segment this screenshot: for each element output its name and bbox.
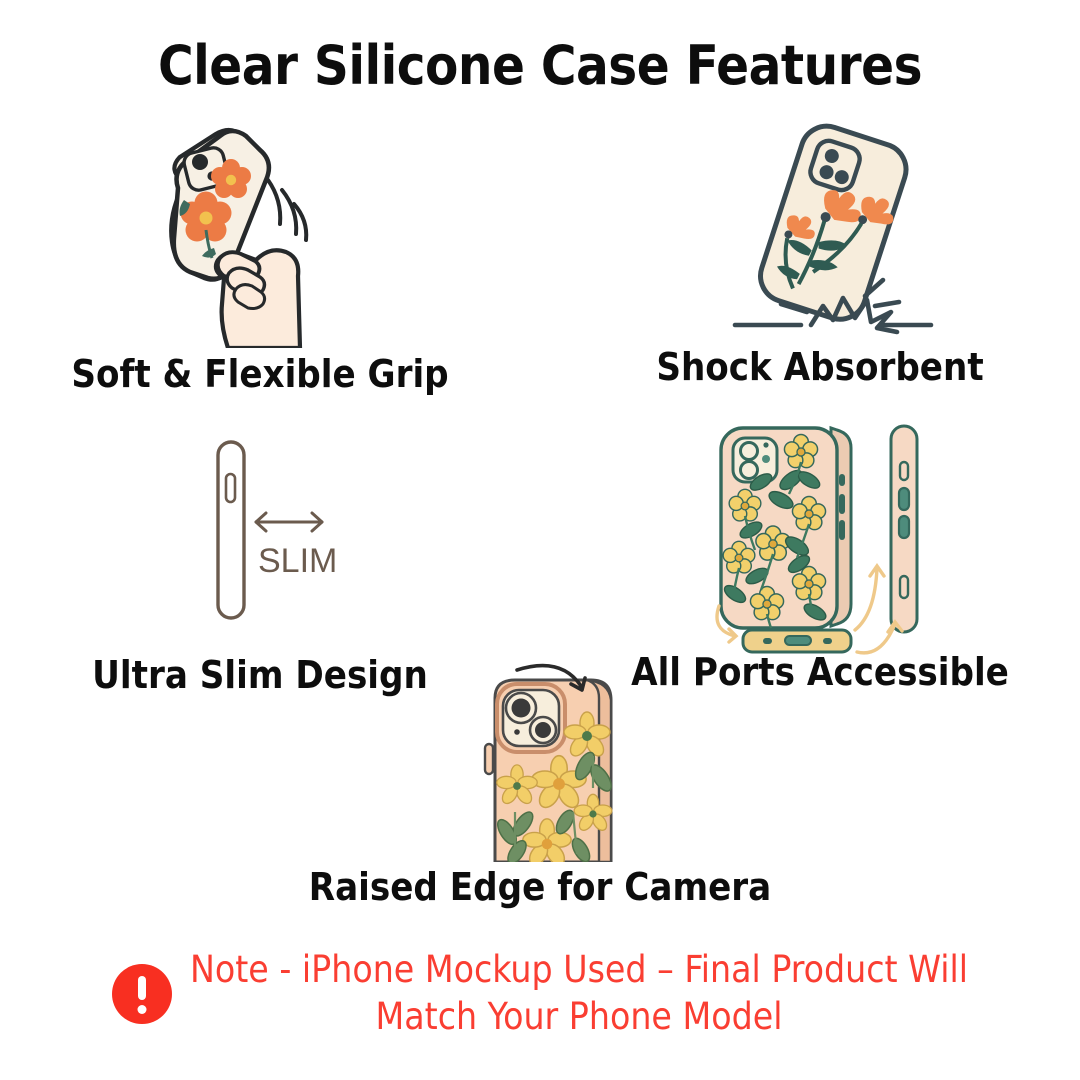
note-text: Note - iPhone Mockup Used – Final Produc…	[190, 946, 968, 1041]
all-ports-accessible-icon	[705, 418, 950, 658]
phone-side-view	[891, 426, 917, 632]
slim-caption: SLIM	[258, 542, 337, 580]
volume-down-button	[899, 516, 909, 538]
power-button	[900, 576, 908, 598]
width-arrow	[256, 513, 322, 531]
note-line-1: Note - iPhone Mockup Used – Final Produc…	[190, 948, 968, 991]
phone-bottom-view	[743, 630, 851, 652]
volume-up-button	[899, 488, 909, 510]
ultra-slim-design-icon: SLIM	[190, 430, 350, 630]
note-line-2: Match Your Phone Model	[376, 995, 783, 1038]
raised-edge-for-camera-label: Raised Edge for Camera	[290, 865, 790, 909]
phone-side-profile	[218, 442, 244, 618]
silent-switch	[900, 462, 908, 480]
raised-edge-for-camera-icon	[455, 662, 655, 862]
page-title: Clear Silicone Case Features	[0, 34, 1080, 97]
hand-shape	[216, 250, 300, 348]
phone-back-view	[721, 428, 851, 628]
side-button	[226, 474, 235, 502]
exclamation-circle-icon	[112, 964, 172, 1024]
ultra-slim-design-label: Ultra Slim Design	[0, 653, 520, 697]
disclaimer-note: Note - iPhone Mockup Used – Final Produc…	[0, 946, 1080, 1041]
motion-lines	[268, 180, 306, 240]
charging-port	[785, 636, 811, 645]
raised-camera-bump	[497, 684, 565, 752]
infographic-page: Clear Silicone Case Features	[0, 0, 1080, 1080]
soft-flexible-grip-label: Soft & Flexible Grip	[0, 352, 520, 396]
shock-absorbent-icon	[715, 120, 950, 345]
soft-flexible-grip-icon	[128, 118, 368, 348]
side-button	[485, 744, 493, 774]
shock-absorbent-label: Shock Absorbent	[570, 345, 1070, 389]
